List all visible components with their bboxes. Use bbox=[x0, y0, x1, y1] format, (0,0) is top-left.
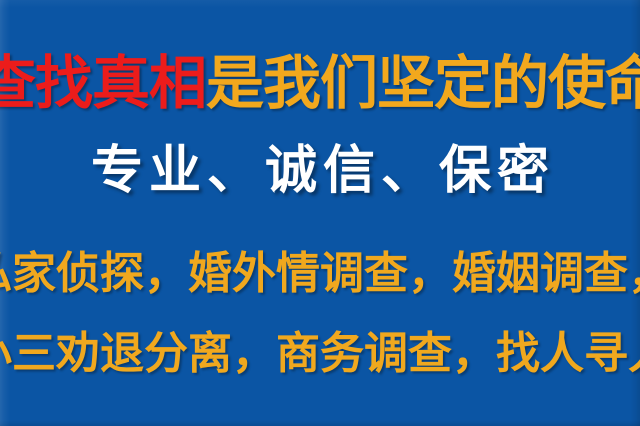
service-list-line-2: 小三劝退分离，商务调查，找人寻人 bbox=[0, 328, 640, 380]
banner-text-stack: 查找真相是我们坚定的使命 专业、诚信、保密 私家侦探，婚外情调查，婚姻调查， 小… bbox=[0, 0, 640, 426]
headline-emphasis: 查找真相 bbox=[0, 54, 206, 112]
core-values-line: 专业、诚信、保密 bbox=[0, 140, 640, 202]
service-list-line-1: 私家侦探，婚外情调查，婚姻调查， bbox=[0, 248, 640, 300]
headline: 查找真相是我们坚定的使命 bbox=[0, 52, 640, 114]
headline-rest: 是我们坚定的使命 bbox=[206, 54, 640, 112]
advertisement-banner: 查找真相是我们坚定的使命 专业、诚信、保密 私家侦探，婚外情调查，婚姻调查， 小… bbox=[0, 0, 640, 426]
